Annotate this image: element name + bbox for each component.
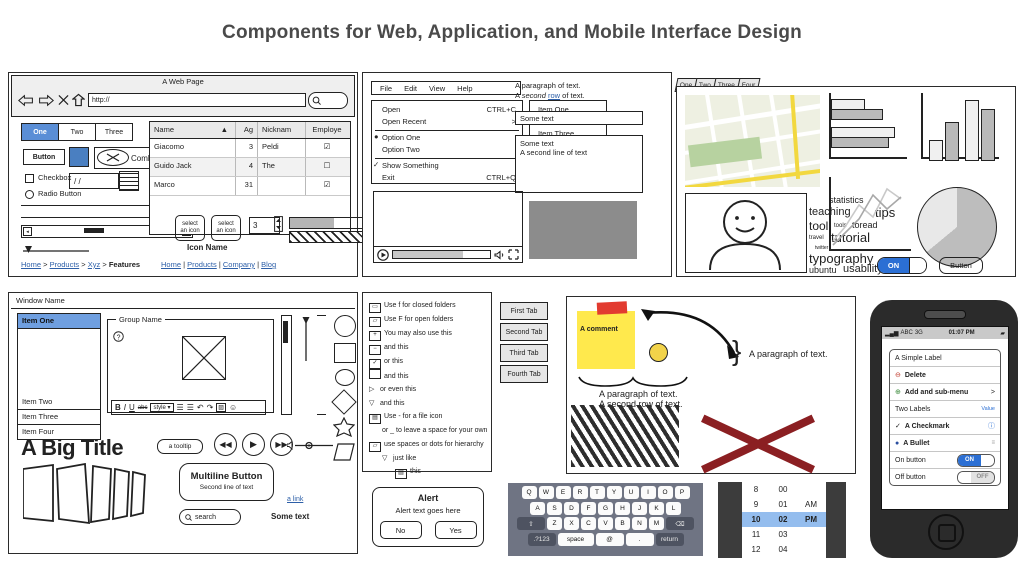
tree-item[interactable]: ▤Use - for a file icon bbox=[369, 410, 487, 424]
list-item-three[interactable]: Item Three bbox=[18, 410, 100, 425]
slider[interactable] bbox=[21, 245, 91, 255]
scrollbar-thumb[interactable] bbox=[84, 228, 104, 233]
folder-closed-icon[interactable]: ▭ bbox=[369, 303, 381, 313]
hour-option-selected[interactable]: 10 bbox=[742, 512, 770, 527]
meridiem-option-pm[interactable]: PM bbox=[796, 512, 826, 527]
tab-third[interactable]: Third Tab bbox=[500, 344, 548, 362]
column-header-employed[interactable]: Employe bbox=[306, 122, 347, 138]
window-title: Window Name bbox=[11, 295, 355, 309]
checkmark-icon: ✓ bbox=[373, 160, 379, 169]
sort-asc-icon: ▲ bbox=[221, 125, 228, 134]
keyboard-row-3: ⇧ Z X C V B N M ⌫ bbox=[511, 517, 700, 530]
table-row[interactable]: Marco 31 ☑ bbox=[150, 177, 350, 196]
cell-nickname: Peldi bbox=[258, 139, 306, 157]
table-header-row: Name▲ Ag Nicknam Employe bbox=[150, 122, 350, 139]
textarea-line-1: Some text bbox=[520, 139, 642, 148]
cell-age: 3 bbox=[236, 139, 258, 157]
diamond-shape[interactable] bbox=[331, 389, 356, 414]
volume-slider[interactable] bbox=[287, 441, 337, 450]
cell-name: Giacomo bbox=[150, 139, 236, 157]
chevron-right-icon: > bbox=[991, 389, 995, 396]
fullscreen-icon[interactable] bbox=[508, 249, 519, 260]
textarea-line-2: A second line of text bbox=[520, 148, 642, 157]
cell-age: 31 bbox=[236, 177, 258, 195]
table-row[interactable]: Guido Jack 4 The ☐ bbox=[150, 158, 350, 177]
play-icon[interactable]: ▶ bbox=[242, 433, 265, 456]
menu-edit[interactable]: Edit bbox=[404, 84, 417, 93]
folder-open-icon[interactable]: ▱ bbox=[369, 442, 381, 452]
checkmark-icon: ✓ bbox=[895, 422, 901, 430]
key-e[interactable]: E bbox=[556, 486, 571, 499]
toggle-knob bbox=[958, 472, 971, 483]
toggle-knob bbox=[981, 455, 994, 466]
video-controls[interactable] bbox=[374, 246, 522, 262]
tree-item[interactable]: +You may also use this bbox=[369, 327, 487, 341]
alert-message: Alert text goes here bbox=[373, 506, 483, 515]
radio-empty-icon[interactable] bbox=[25, 190, 34, 199]
textarea[interactable]: Some text A second line of text bbox=[515, 135, 643, 193]
cell-nickname: The bbox=[258, 158, 306, 176]
key-g[interactable]: G bbox=[598, 502, 613, 515]
menu-item-exit[interactable]: Exit CTRL+Q bbox=[372, 173, 522, 185]
menu-file[interactable]: File bbox=[380, 84, 392, 93]
battery-icon: ▰ bbox=[1000, 330, 1005, 337]
triangle-down-icon[interactable]: ▽ bbox=[369, 397, 378, 410]
tab-second[interactable]: Second Tab bbox=[500, 323, 548, 341]
browser-search-box[interactable] bbox=[308, 92, 348, 109]
tab-three[interactable]: Three bbox=[96, 124, 132, 140]
media-controls[interactable]: ◀◀ ▶ ▶▶ bbox=[214, 433, 293, 456]
key-m[interactable]: M bbox=[649, 517, 664, 530]
icon-picker-button[interactable]: selectan icon bbox=[175, 215, 205, 241]
keyboard-row-1: Q W E R T Y U I O P bbox=[511, 486, 700, 499]
list-empty-space bbox=[18, 329, 100, 395]
virtual-keyboard[interactable]: Q W E R T Y U I O P A S D F G H J K L ⇧ … bbox=[508, 483, 703, 556]
phone-status-bar: ▂▄▆ ABC 3G 01:07 PM ▰ bbox=[882, 327, 1008, 339]
checkbox-empty-icon[interactable] bbox=[369, 369, 381, 379]
cell-name: Guido Jack bbox=[150, 158, 236, 176]
key-numbers[interactable]: .?123 bbox=[528, 533, 556, 546]
vertical-scrollbar[interactable] bbox=[281, 315, 292, 415]
breadcrumb-features: Features bbox=[109, 260, 140, 269]
brace-right-text: A paragraph of text. bbox=[749, 349, 828, 360]
bullet-list-icon[interactable]: ☰ bbox=[177, 403, 184, 412]
hour-column[interactable]: 8 9 10 11 12 bbox=[742, 482, 771, 558]
dropdown-menu[interactable]: Open CTRL+C Open Recent > ● Option One O… bbox=[371, 100, 523, 184]
star-shape[interactable] bbox=[333, 417, 355, 437]
bold-icon[interactable]: B bbox=[115, 403, 121, 412]
url-input[interactable]: http:// bbox=[88, 93, 306, 107]
key-y[interactable]: Y bbox=[607, 486, 622, 499]
undo-icon[interactable]: ↶ bbox=[197, 403, 204, 412]
breadcrumb-xyz[interactable]: Xyz bbox=[88, 260, 101, 269]
rich-text-toolbar[interactable]: B I U abc style ▾ ☰ ☰ ↶ ↷ ▨ ☺ bbox=[111, 400, 266, 415]
combobox-x-icon bbox=[97, 149, 129, 166]
circle-shape[interactable] bbox=[334, 315, 356, 337]
minute-option-selected[interactable]: 02 bbox=[770, 512, 796, 527]
forward-arrow-icon[interactable] bbox=[38, 94, 54, 107]
key-o[interactable]: O bbox=[658, 486, 673, 499]
tag-ubuntu[interactable]: ubuntu bbox=[809, 265, 837, 275]
filmstrip-carousel[interactable] bbox=[23, 463, 153, 525]
alert-title: Alert bbox=[373, 493, 483, 503]
alert-yes-button[interactable]: Yes bbox=[435, 521, 477, 539]
red-x-icon bbox=[697, 409, 819, 471]
vertical-tab-list[interactable]: First Tab Second Tab Third Tab Fourth Ta… bbox=[500, 302, 548, 386]
search-input[interactable]: search bbox=[179, 509, 241, 525]
tree-item[interactable]: ▱use spaces or dots for hierarchy bbox=[369, 438, 487, 452]
key-v[interactable]: V bbox=[598, 517, 613, 530]
play-icon[interactable] bbox=[377, 249, 389, 261]
dashboard-panel: statistics teaching tips tool tools tore… bbox=[676, 86, 1016, 277]
checkbox-empty-icon[interactable] bbox=[25, 174, 34, 183]
video-player[interactable] bbox=[373, 191, 523, 263]
vertical-bar-chart bbox=[921, 93, 1001, 163]
tag-tool[interactable]: tool bbox=[809, 219, 828, 233]
horizontal-bar-chart bbox=[829, 93, 909, 163]
column-header-age[interactable]: Ag bbox=[236, 122, 258, 138]
column-header-nickname[interactable]: Nicknam bbox=[258, 122, 306, 138]
footer-links[interactable]: Home | Products | Company | Blog bbox=[161, 260, 276, 269]
minute-option[interactable]: 04 bbox=[770, 542, 796, 557]
menu-separator bbox=[375, 130, 519, 131]
key-a[interactable]: A bbox=[530, 502, 545, 515]
meridiem-blank bbox=[796, 527, 826, 542]
phone-row-on-button[interactable]: On button ON bbox=[890, 452, 1000, 469]
date-input[interactable]: / / bbox=[69, 173, 119, 189]
key-i[interactable]: I bbox=[641, 486, 656, 499]
key-s[interactable]: S bbox=[547, 502, 562, 515]
keyboard-row-2: A S D F G H J K L bbox=[511, 502, 700, 515]
video-progress[interactable] bbox=[392, 250, 491, 259]
cell-employed-checked-icon[interactable]: ☑ bbox=[306, 177, 347, 195]
search-icon bbox=[312, 96, 321, 105]
browser-panel: A Web Page http:// One Two Three Button … bbox=[8, 72, 358, 277]
file-icon[interactable]: ▤ bbox=[369, 414, 381, 424]
key-x[interactable]: X bbox=[564, 517, 579, 530]
big-title: A Big Title bbox=[21, 435, 123, 461]
underline-icon[interactable]: U bbox=[129, 403, 135, 412]
key-at[interactable]: @ bbox=[596, 533, 624, 546]
key-u[interactable]: U bbox=[624, 486, 639, 499]
color-swatch[interactable] bbox=[69, 147, 89, 167]
icon-name-caption: Icon Name bbox=[187, 243, 227, 252]
window-panel: Window Name Item One Item Two Item Three… bbox=[8, 292, 358, 554]
menu-item-option-two[interactable]: Option Two bbox=[372, 145, 522, 157]
delete-icon: ⊖ bbox=[895, 371, 901, 379]
tree-item[interactable]: ▷ or even this bbox=[369, 383, 487, 396]
phone-row-two-labels[interactable]: Two LabelsValue bbox=[890, 401, 1000, 418]
key-k[interactable]: K bbox=[649, 502, 664, 515]
rewind-icon[interactable]: ◀◀ bbox=[214, 433, 237, 456]
meridiem-option-am[interactable]: AM bbox=[796, 497, 826, 512]
volume-icon[interactable] bbox=[494, 250, 505, 260]
back-arrow-icon[interactable] bbox=[18, 94, 34, 107]
inline-link[interactable]: row bbox=[548, 91, 560, 100]
menu-bar[interactable]: File Edit View Help bbox=[371, 81, 521, 95]
hour-option[interactable]: 9 bbox=[742, 497, 770, 512]
key-z[interactable]: Z bbox=[547, 517, 562, 530]
carrier-label: ABC bbox=[900, 330, 912, 336]
svg-text:?: ? bbox=[117, 334, 121, 341]
tree-item[interactable]: or _ to leave a space for your own bbox=[369, 424, 487, 437]
key-b[interactable]: B bbox=[615, 517, 630, 530]
menu-accel: CTRL+C bbox=[487, 105, 516, 114]
key-n[interactable]: N bbox=[632, 517, 647, 530]
menu-item-open-recent[interactable]: Open Recent > bbox=[372, 117, 522, 129]
key-return[interactable]: return bbox=[656, 533, 684, 546]
hour-option[interactable]: 11 bbox=[742, 527, 770, 542]
brace-bottom-icon bbox=[577, 375, 689, 389]
a-link[interactable]: a link bbox=[287, 496, 303, 503]
search-placeholder: search bbox=[195, 514, 216, 521]
minute-option[interactable]: 03 bbox=[770, 527, 796, 542]
phone-list[interactable]: A Simple Label ⊖Delete ⊕Add and sub-menu… bbox=[889, 349, 1001, 486]
phone-row-add-submenu[interactable]: ⊕Add and sub-menu> bbox=[890, 384, 1000, 401]
file-icon[interactable]: ▤ bbox=[395, 469, 407, 479]
multiline-button-line1: Multiline Button bbox=[180, 471, 273, 482]
hour-option[interactable]: 8 bbox=[742, 482, 770, 497]
key-period[interactable]: . bbox=[626, 533, 654, 546]
italic-icon[interactable]: I bbox=[124, 403, 126, 412]
key-h[interactable]: H bbox=[615, 502, 630, 515]
list-item-two[interactable]: Item Two bbox=[18, 395, 100, 410]
meridiem-blank bbox=[796, 542, 826, 557]
triangle-down-icon[interactable]: ▽ bbox=[382, 452, 391, 465]
speaker-grill bbox=[924, 310, 966, 319]
tree-item[interactable]: ▭Use f for closed folders bbox=[369, 299, 487, 313]
number-list-icon[interactable]: ☰ bbox=[187, 403, 194, 412]
folder-open-icon[interactable]: ▱ bbox=[369, 317, 381, 327]
multiline-button-line2: Second line of text bbox=[180, 484, 273, 491]
tree-item[interactable]: ▤this bbox=[369, 465, 487, 479]
image-icon[interactable]: ▨ bbox=[216, 403, 226, 412]
shift-arrow-icon[interactable]: ⇧ bbox=[517, 517, 545, 530]
toggle-on-label: ON bbox=[878, 258, 909, 273]
hatched-progress-bar bbox=[289, 231, 369, 243]
footer-link-blog[interactable]: Blog bbox=[261, 260, 276, 269]
checkbox-row[interactable]: Checkbox bbox=[25, 173, 71, 183]
pie-chart bbox=[917, 187, 997, 267]
list-item-one[interactable]: Item One bbox=[18, 314, 100, 329]
key-f[interactable]: F bbox=[581, 502, 596, 515]
menu-view[interactable]: View bbox=[429, 84, 445, 93]
annotation-panel: A comment } A paragraph of text. A parag… bbox=[566, 296, 856, 474]
icon-picker-button[interactable]: selectan icon bbox=[211, 215, 241, 241]
browser-chrome: A Web Page http:// bbox=[11, 75, 355, 117]
toggle-on[interactable]: ON bbox=[957, 454, 995, 467]
cell-employed-checked-icon[interactable]: ☑ bbox=[306, 139, 347, 157]
menu-panel: File Edit View Help Open CTRL+C Open Rec… bbox=[362, 72, 672, 277]
tree-item[interactable]: −and this bbox=[369, 341, 487, 355]
table-row[interactable]: Giacomo 3 Peldi ☑ bbox=[150, 139, 350, 158]
phone-screen: ▂▄▆ ABC 3G 01:07 PM ▰ A Simple Label ⊖De… bbox=[881, 326, 1009, 510]
network-label: 3G bbox=[915, 330, 923, 336]
toggle-off[interactable]: OFF bbox=[957, 471, 995, 484]
phone-row-bullet[interactable]: ●A Bullet≡ bbox=[890, 435, 1000, 452]
radio-label: Radio Button bbox=[38, 189, 81, 198]
scroll-left-icon[interactable]: ◂ bbox=[23, 227, 32, 236]
search-icon bbox=[185, 514, 192, 521]
footer-link-home[interactable]: Home bbox=[161, 260, 181, 269]
tooltip: a tooltip bbox=[157, 439, 203, 454]
emoji-icon[interactable]: ☺ bbox=[229, 403, 237, 412]
footer-link-products[interactable]: Products bbox=[187, 260, 217, 269]
tree-panel: ▭Use f for closed folders ▱Use F for ope… bbox=[362, 292, 492, 472]
generic-button[interactable]: Button bbox=[23, 149, 65, 165]
tree-list[interactable]: ▭Use f for closed folders ▱Use F for ope… bbox=[369, 299, 487, 479]
ellipse-shape[interactable] bbox=[335, 369, 355, 386]
list-pane[interactable]: Item One Item Two Item Three Item Four bbox=[17, 313, 101, 440]
key-p[interactable]: P bbox=[675, 486, 690, 499]
vertical-track[interactable] bbox=[317, 315, 326, 415]
square-shape[interactable] bbox=[334, 343, 356, 363]
hour-option[interactable]: 12 bbox=[742, 542, 770, 557]
line-chart bbox=[829, 177, 914, 257]
some-text: Some text bbox=[271, 512, 309, 521]
question-mark-icon[interactable]: ? bbox=[113, 331, 124, 342]
footer-link-company[interactable]: Company bbox=[223, 260, 255, 269]
backspace-icon[interactable]: ⌫ bbox=[666, 517, 694, 530]
keyboard-row-4: .?123 space @ . return bbox=[511, 533, 700, 546]
breadcrumb[interactable]: Home > Products > Xyz > Features bbox=[21, 260, 140, 269]
radio-selected-icon: ● bbox=[374, 132, 379, 141]
meridiem-column[interactable]: AM PM bbox=[796, 482, 826, 558]
breadcrumb-products[interactable]: Products bbox=[50, 260, 80, 269]
group-label: Group Name bbox=[116, 315, 165, 324]
tree-item[interactable]: and this bbox=[369, 369, 487, 383]
tree-item[interactable]: ▽ and this bbox=[369, 397, 487, 410]
sticky-note[interactable] bbox=[577, 311, 635, 369]
browser-nav-row: http:// bbox=[16, 88, 350, 114]
phone-row-checkmark[interactable]: ✓A Checkmarkⓘ bbox=[890, 418, 1000, 435]
sticky-note-text: A comment bbox=[580, 326, 618, 333]
key-space[interactable]: space bbox=[558, 533, 594, 546]
alert-dialog: Alert Alert text goes here No Yes bbox=[372, 487, 484, 547]
calendar-icon[interactable] bbox=[119, 171, 139, 191]
checkbox-checked-icon[interactable]: ✓ bbox=[369, 359, 381, 369]
home-button[interactable] bbox=[928, 514, 964, 550]
browser-window-title: A Web Page bbox=[12, 77, 354, 86]
dashboard-button[interactable]: Button bbox=[939, 257, 983, 274]
key-w[interactable]: W bbox=[539, 486, 554, 499]
triangle-right-icon[interactable]: ▷ bbox=[369, 383, 378, 396]
phone-row-delete[interactable]: ⊖Delete bbox=[890, 367, 1000, 384]
minute-option[interactable]: 00 bbox=[770, 482, 796, 497]
group-box: Group Name ? bbox=[107, 319, 274, 413]
strikethrough-icon[interactable]: abc bbox=[138, 405, 148, 411]
radio-row[interactable]: Radio Button bbox=[25, 189, 81, 199]
progress-bar bbox=[289, 217, 369, 229]
checkbox-label: Checkbox bbox=[38, 173, 71, 182]
key-t[interactable]: T bbox=[590, 486, 605, 499]
menu-item-open[interactable]: Open CTRL+C bbox=[372, 105, 522, 117]
image-placeholder-block bbox=[529, 201, 637, 259]
menu-item-show-something[interactable]: ✓ Show Something bbox=[372, 161, 522, 173]
map-widget[interactable] bbox=[685, 95, 820, 187]
alert-no-button[interactable]: No bbox=[380, 521, 422, 539]
toggle-switch-on[interactable]: ON bbox=[877, 257, 927, 274]
meridiem-blank bbox=[796, 482, 826, 497]
scribble-icon bbox=[571, 405, 679, 467]
key-j[interactable]: J bbox=[632, 502, 647, 515]
phone-mockup: ▂▄▆ ABC 3G 01:07 PM ▰ A Simple Label ⊖De… bbox=[870, 300, 1018, 558]
minute-column[interactable]: 00 01 02 03 04 bbox=[770, 482, 797, 558]
avatar bbox=[685, 193, 807, 273]
brace-right-icon: } bbox=[732, 337, 741, 365]
add-icon: ⊕ bbox=[895, 388, 901, 396]
plus-box-icon[interactable]: + bbox=[369, 331, 381, 341]
key-l[interactable]: L bbox=[666, 502, 681, 515]
breadcrumb-home[interactable]: Home bbox=[21, 260, 41, 269]
signal-icon: ▂▄▆ bbox=[885, 330, 898, 337]
toggle-knob[interactable] bbox=[909, 258, 926, 273]
menu-item-option-one[interactable]: ● Option One bbox=[372, 133, 522, 145]
row-value: Value bbox=[981, 406, 995, 412]
column-header-name[interactable]: Name▲ bbox=[150, 122, 236, 138]
menu-separator bbox=[375, 158, 519, 159]
tab-two[interactable]: Two bbox=[59, 124, 96, 140]
phone-row-simple-label[interactable]: A Simple Label bbox=[890, 350, 1000, 367]
redo-icon[interactable]: ↷ bbox=[207, 403, 214, 412]
poster-root: Components for Web, Application, and Mob… bbox=[0, 0, 1024, 578]
status-time: 01:07 PM bbox=[949, 330, 975, 336]
reorder-icon[interactable]: ≡ bbox=[991, 440, 995, 446]
tab-bar[interactable]: One Two Three bbox=[21, 123, 133, 141]
text-input[interactable]: Some text bbox=[515, 111, 643, 125]
key-q[interactable]: Q bbox=[522, 486, 537, 499]
home-icon[interactable] bbox=[72, 93, 85, 107]
tag-travel[interactable]: travel bbox=[809, 235, 824, 241]
tab-fourth[interactable]: Fourth Tab bbox=[500, 365, 548, 383]
tab-first[interactable]: First Tab bbox=[500, 302, 548, 320]
minus-box-icon[interactable]: − bbox=[369, 345, 381, 355]
key-d[interactable]: D bbox=[564, 502, 579, 515]
stepper-arrows-icon[interactable] bbox=[274, 216, 283, 232]
cell-name: Marco bbox=[150, 177, 236, 195]
phone-row-off-button[interactable]: Off button OFF bbox=[890, 469, 1000, 485]
page-title: Components for Web, Application, and Mob… bbox=[0, 22, 1024, 44]
minute-option[interactable]: 01 bbox=[770, 497, 796, 512]
key-r[interactable]: R bbox=[573, 486, 588, 499]
time-picker[interactable]: 8 9 10 11 12 00 01 02 03 04 AM PM bbox=[718, 482, 846, 558]
tree-item[interactable]: ▽ just like bbox=[369, 452, 487, 465]
cell-age: 4 bbox=[236, 158, 258, 176]
menu-accel: CTRL+Q bbox=[486, 173, 516, 182]
info-icon[interactable]: ⓘ bbox=[988, 421, 995, 431]
stop-x-icon[interactable] bbox=[58, 94, 69, 106]
menu-help[interactable]: Help bbox=[457, 84, 472, 93]
key-c[interactable]: C bbox=[581, 517, 596, 530]
tape-icon bbox=[597, 301, 628, 315]
cell-employed-empty-icon[interactable]: ☐ bbox=[306, 158, 347, 176]
tree-item[interactable]: ✓or this bbox=[369, 355, 487, 369]
multiline-button[interactable]: Multiline Button Second line of text bbox=[179, 463, 274, 501]
tab-one[interactable]: One bbox=[22, 124, 59, 140]
cell-nickname bbox=[258, 177, 306, 195]
paragraph-text: A paragraph of text. A second row of tex… bbox=[515, 81, 585, 101]
bullet-icon: ● bbox=[895, 440, 899, 447]
vertical-slider[interactable] bbox=[301, 315, 311, 363]
style-dropdown[interactable]: style ▾ bbox=[150, 403, 173, 412]
tree-item[interactable]: ▱Use F for open folders bbox=[369, 313, 487, 327]
image-placeholder-icon[interactable] bbox=[182, 336, 226, 380]
